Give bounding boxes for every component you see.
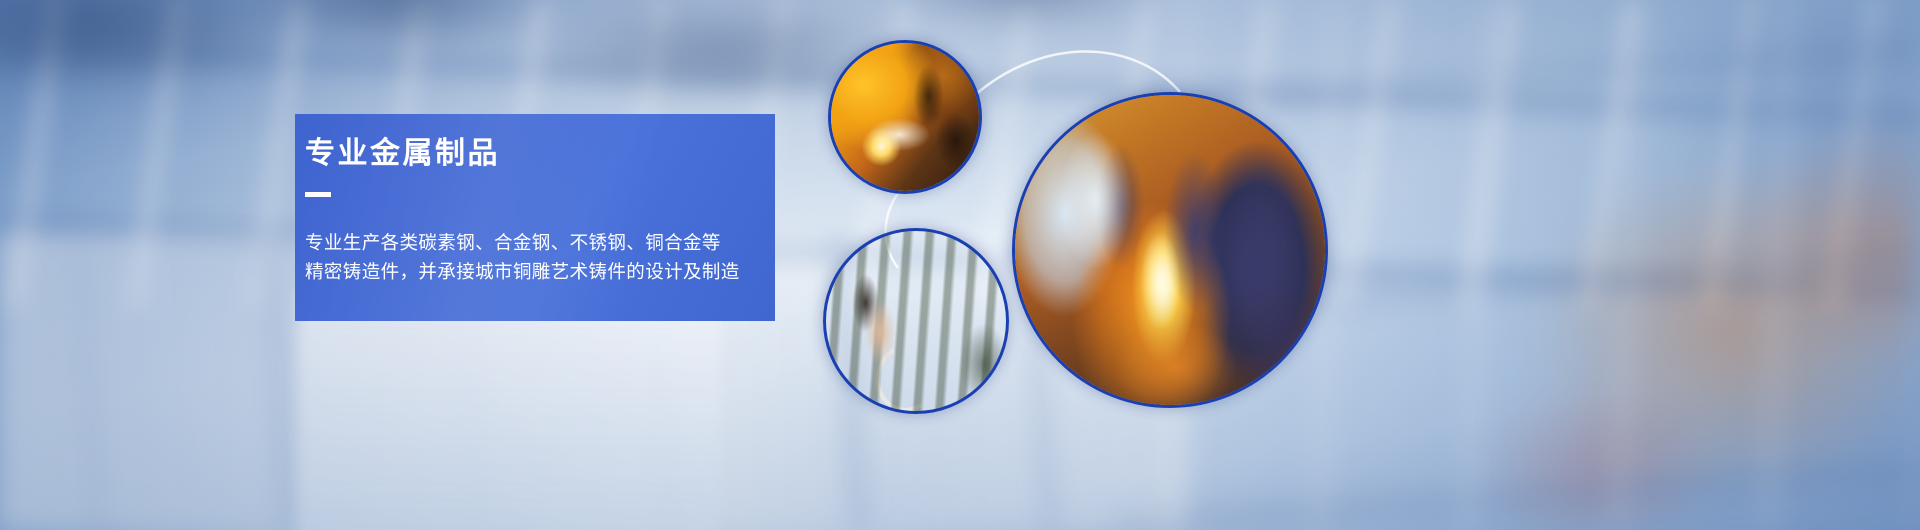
foundry-molten-pour-image bbox=[1015, 95, 1325, 405]
welding-sparks-photo bbox=[828, 40, 982, 194]
description-line-2: 精密铸造件，并承接城市铜雕艺术铸件的设计及制造 bbox=[305, 257, 740, 286]
hero-banner: 专业金属制品 专业生产各类碳素钢、合金钢、不锈钢、铜合金等 精密铸造件，并承接城… bbox=[0, 0, 1920, 530]
worker-inspection-photo bbox=[823, 228, 1009, 414]
headline-divider-rule bbox=[305, 192, 331, 197]
description-line-1: 专业生产各类碳素钢、合金钢、不锈钢、铜合金等 bbox=[305, 228, 740, 257]
welding-sparks-image bbox=[831, 43, 979, 191]
banner-headline: 专业金属制品 bbox=[295, 136, 500, 172]
foundry-molten-pour-photo bbox=[1012, 92, 1328, 408]
worker-inspection-image bbox=[826, 231, 1006, 411]
banner-description: 专业生产各类碳素钢、合金钢、不锈钢、铜合金等 精密铸造件，并承接城市铜雕艺术铸件… bbox=[295, 228, 740, 286]
